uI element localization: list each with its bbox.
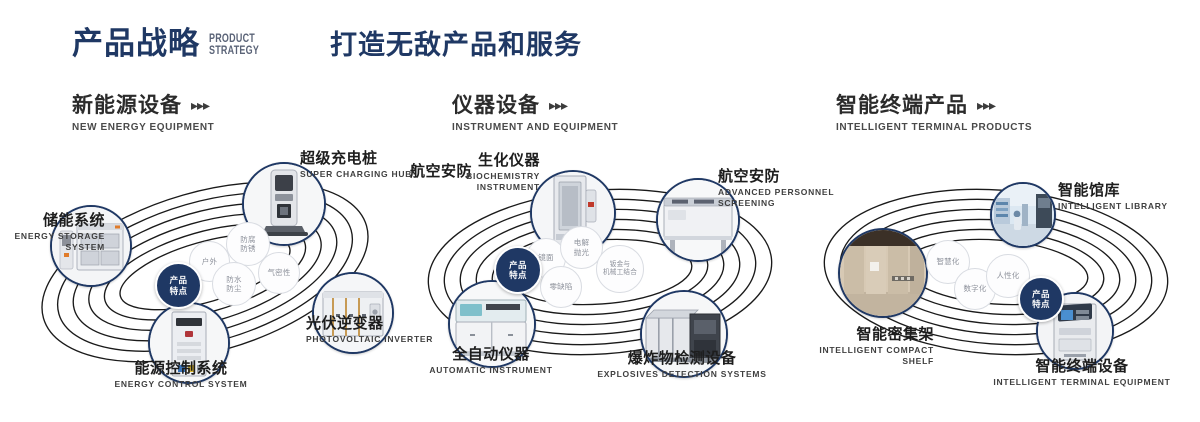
orbit-cluster-new-energy: 户外 防腐 防锈 防水 防尘 气密性 产品 特点	[0, 150, 410, 400]
feature-bubble-airtightness: 气密性	[258, 252, 300, 294]
node-label-energy-storage: 储能系统 ENERGY STORAGE SYSTEM	[0, 212, 105, 253]
section-header-title: 智能终端产品	[836, 94, 968, 117]
section-header-cn: 智能终端产品 ▸▸▸	[836, 94, 1032, 117]
node-label-en-line1: BIOCHEMISTRY	[380, 171, 540, 182]
core-badge-line1: 产品	[1032, 289, 1050, 299]
poster-canvas: 产品战略 PRODUCT STRATEGY 打造无敌产品和服务 新能源设备 ▸▸…	[0, 0, 1200, 422]
section-header-en: INSTRUMENT AND EQUIPMENT	[452, 122, 618, 133]
feature-bubble-line2: 防尘	[226, 284, 241, 293]
feature-bubble-line1: 防腐	[240, 235, 255, 244]
feature-bubble-zero-defect: 零缺陷	[540, 266, 582, 308]
feature-bubble-line1: 钣金与	[603, 261, 637, 269]
core-badge-line1: 产品	[170, 275, 188, 285]
section-header-cn: 仪器设备 ▸▸▸	[452, 94, 618, 117]
node-label-cn: 爆炸物检测设备	[582, 350, 782, 367]
feature-bubble-line1: 户外	[202, 257, 217, 266]
core-badge-line2: 特点	[509, 270, 527, 280]
feature-bubble-sheet-metal-machining: 钣金与 机械工结合	[596, 245, 644, 293]
poster-title: 产品战略 PRODUCT STRATEGY	[72, 28, 273, 59]
node-label-automatic-instrument: 全自动仪器 AUTOMATIC INSTRUMENT	[400, 346, 582, 376]
node-label-intelligent-library: 智能馆库 INTELLIGENT LIBRARY	[1058, 182, 1168, 212]
node-label-biochemistry-instrument: 生化仪器 BIOCHEMISTRY INSTRUMENT	[380, 152, 540, 193]
node-bubble-intelligent-library[interactable]	[990, 182, 1056, 248]
orbit-cluster-instrument: 镜面 电解 抛光 钣金与 机械工结合 零缺陷 产品 特点 航空安防	[400, 150, 800, 400]
feature-bubble-line1: 电解	[574, 238, 589, 247]
node-label-explosives-detection: 爆炸物检测设备 EXPLOSIVES DETECTION SYSTEMS	[582, 350, 782, 380]
core-badge-product-features[interactable]: 产品 特点	[494, 246, 542, 294]
section-header-title: 仪器设备	[452, 94, 540, 117]
feature-bubble-waterproof-dustproof: 防水 防尘	[212, 262, 256, 306]
chevron-right-triple-icon: ▸▸▸	[549, 98, 567, 113]
node-label-cn: 全自动仪器	[400, 346, 582, 363]
node-bubble-intelligent-compact-shelf[interactable]	[838, 228, 928, 318]
feature-bubble-line1: 防水	[226, 275, 241, 284]
poster-title-en-line2: STRATEGY	[209, 46, 259, 58]
node-label-en-line1: EXPLOSIVES DETECTION SYSTEMS	[582, 369, 782, 380]
node-label-en-line1: ENERGY CONTROL SYSTEM	[66, 379, 296, 390]
feature-bubble-line2: 防锈	[240, 244, 255, 253]
feature-bubble-line1: 人性化	[996, 271, 1019, 280]
node-label-en-line1: AUTOMATIC INSTRUMENT	[400, 365, 582, 376]
node-label-en-line1: INTELLIGENT COMPACT	[774, 345, 934, 356]
node-label-cn: 能源控制系统	[66, 360, 296, 377]
feature-bubble-line1: 智慧化	[936, 257, 959, 266]
feature-bubble-line2: 机械工结合	[603, 269, 637, 277]
poster-title-en: PRODUCT STRATEGY	[209, 34, 259, 57]
section-header-en: INTELLIGENT TERMINAL PRODUCTS	[836, 122, 1032, 133]
feature-bubble-line1: 气密性	[267, 268, 290, 277]
core-badge-line1: 产品	[509, 260, 527, 270]
section-header-title: 新能源设备	[72, 94, 182, 117]
node-label-intelligent-terminal-equipment: 智能终端设备 INTELLIGENT TERMINAL EQUIPMENT	[962, 358, 1200, 388]
library-interior-illustration	[992, 184, 1054, 246]
feature-bubble-line1: 数字化	[963, 284, 986, 293]
section-header-instrument: 仪器设备 ▸▸▸ INSTRUMENT AND EQUIPMENT	[452, 94, 618, 133]
section-header-intelligent-terminal: 智能终端产品 ▸▸▸ INTELLIGENT TERMINAL PRODUCTS	[836, 94, 1032, 133]
section-header-new-energy: 新能源设备 ▸▸▸ NEW ENERGY EQUIPMENT	[72, 94, 214, 133]
node-label-en-line2: SHELF	[774, 356, 934, 367]
chevron-right-triple-icon: ▸▸▸	[977, 98, 995, 113]
node-label-cn: 智能馆库	[1058, 182, 1168, 199]
core-badge-product-features[interactable]: 产品 特点	[155, 262, 202, 309]
node-label-cn: 智能密集架	[774, 326, 934, 343]
chevron-right-triple-icon: ▸▸▸	[191, 98, 209, 113]
core-badge-product-features[interactable]: 产品 特点	[1018, 276, 1064, 322]
poster-slogan: 打造无敌产品和服务	[330, 31, 582, 61]
orbit-cluster-intelligent-terminal: 智慧化 数字化 人性化 产品 特点 智能馆库 INTELLIGENT LIBRA…	[800, 150, 1200, 400]
section-header-cn: 新能源设备 ▸▸▸	[72, 94, 214, 117]
node-label-en-line1: ENERGY STORAGE	[0, 231, 105, 242]
poster-title-en-line1: PRODUCT	[209, 34, 259, 46]
node-label-en-line1: INTELLIGENT TERMINAL EQUIPMENT	[962, 377, 1200, 388]
node-label-cn: 生化仪器	[380, 152, 540, 169]
compact-shelf-illustration	[840, 230, 926, 316]
poster-title-cn: 产品战略	[72, 28, 200, 59]
node-label-intelligent-compact-shelf: 智能密集架 INTELLIGENT COMPACT SHELF	[774, 326, 934, 367]
core-badge-line2: 特点	[170, 286, 188, 296]
node-label-energy-control-system: 能源控制系统 ENERGY CONTROL SYSTEM	[66, 360, 296, 390]
node-label-cn: 储能系统	[0, 212, 105, 229]
node-label-en-line1: INTELLIGENT LIBRARY	[1058, 201, 1168, 212]
section-header-en: NEW ENERGY EQUIPMENT	[72, 122, 214, 133]
node-label-en-line2: INSTRUMENT	[380, 182, 540, 193]
node-label-en-line2: SYSTEM	[0, 242, 105, 253]
node-label-cn: 智能终端设备	[962, 358, 1200, 375]
feature-bubble-line2: 抛光	[574, 248, 589, 257]
feature-bubble-line1: 零缺陷	[549, 282, 572, 291]
core-badge-line2: 特点	[1032, 299, 1050, 309]
